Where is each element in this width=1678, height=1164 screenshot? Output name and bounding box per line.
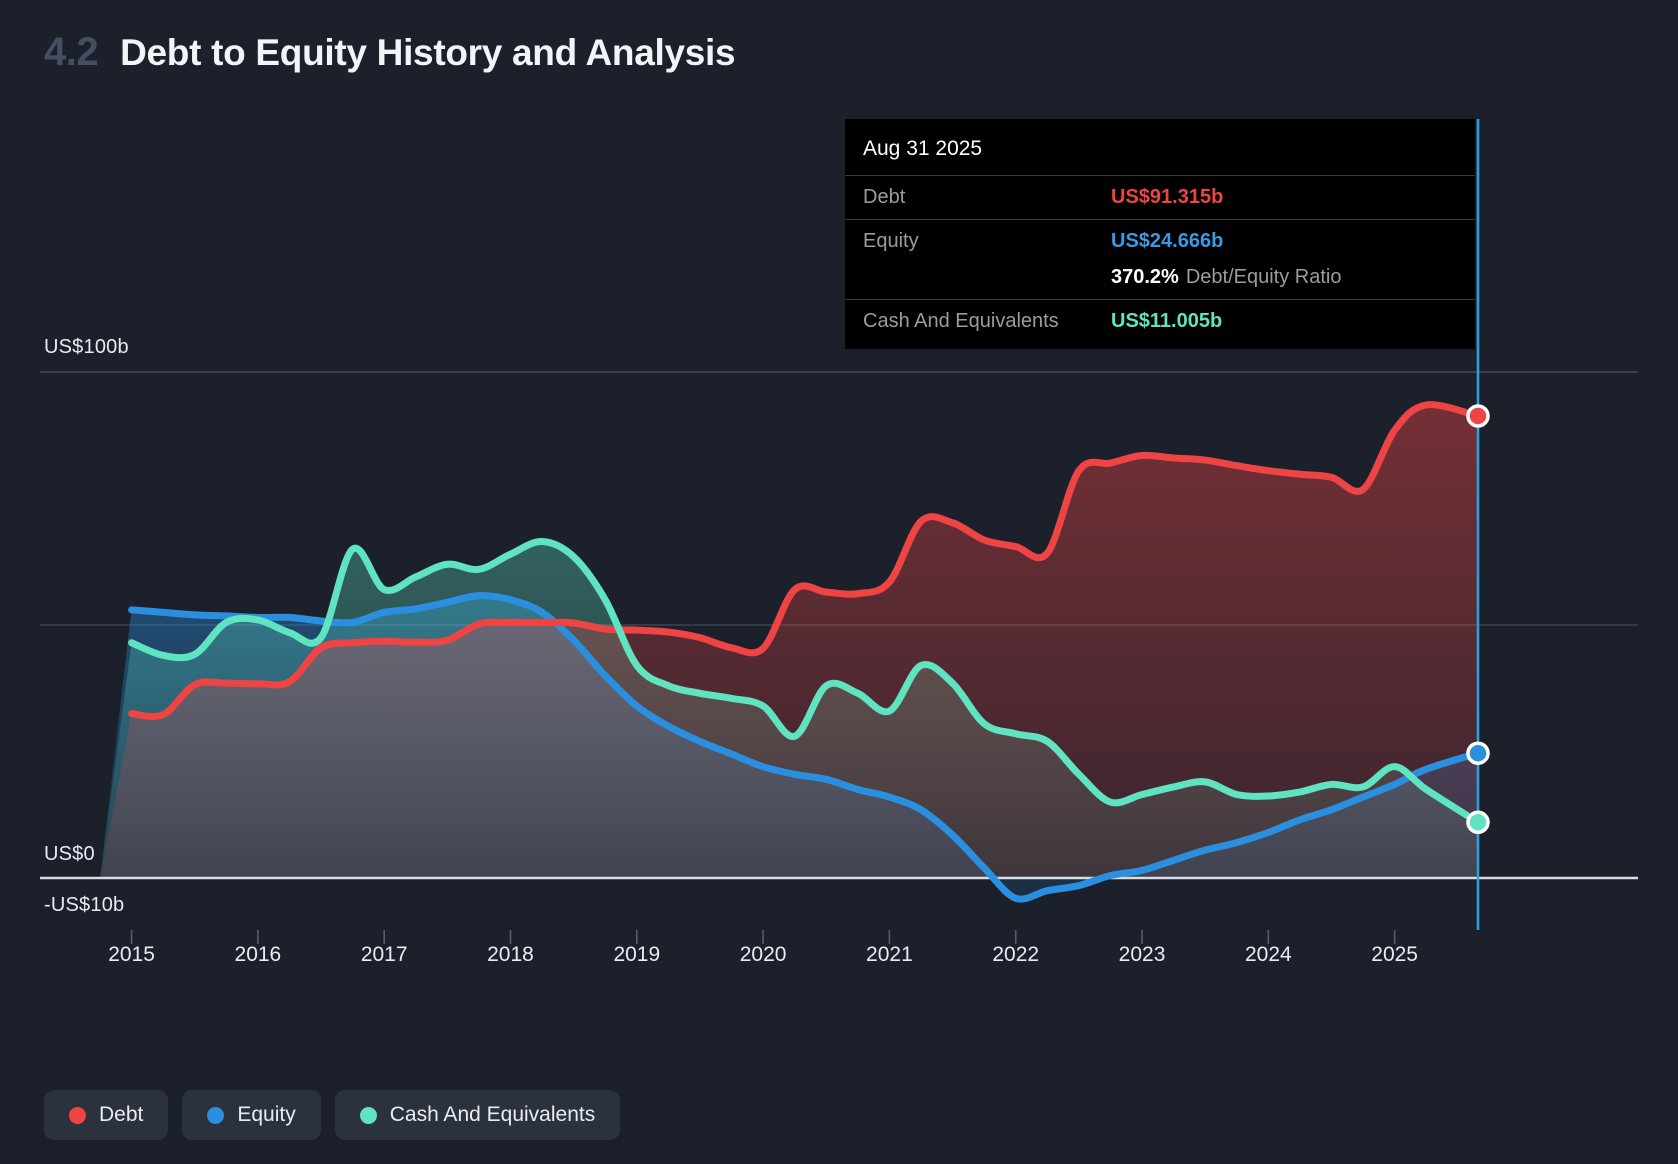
x-axis-label-2018: 2018 (487, 943, 534, 967)
x-axis-label-2020: 2020 (740, 943, 787, 967)
x-axis-label-2022: 2022 (992, 943, 1039, 967)
chart-tooltip: Aug 31 2025 Debt US$91.315b Equity US$24… (845, 119, 1475, 349)
y-axis-label-0: US$0 (44, 843, 95, 866)
y-axis-label-neg10b: -US$10b (44, 894, 124, 917)
tooltip-value-cash: US$11.005b (1111, 310, 1222, 333)
tooltip-label-equity: Equity (863, 230, 1111, 253)
tooltip-date: Aug 31 2025 (845, 119, 1475, 175)
x-axis-label-2024: 2024 (1245, 943, 1292, 967)
chart-legend[interactable]: DebtEquityCash And Equivalents (44, 1090, 620, 1140)
x-axis-label-2019: 2019 (613, 943, 660, 967)
series-areas (100, 405, 1478, 900)
legend-label: Cash And Equivalents (390, 1103, 595, 1127)
x-axis-label-2023: 2023 (1119, 943, 1166, 967)
tooltip-row-equity: Equity US$24.666b (845, 219, 1475, 263)
y-axis-label-100b: US$100b (44, 336, 129, 359)
tooltip-label-ratio: Debt/Equity Ratio (1186, 266, 1342, 289)
tooltip-row-debt: Debt US$91.315b (845, 175, 1475, 219)
legend-color-dot-icon (69, 1107, 86, 1124)
tooltip-value-ratio: 370.2% (1111, 266, 1179, 289)
legend-item-debt[interactable]: Debt (44, 1090, 168, 1140)
legend-item-equity[interactable]: Equity (182, 1090, 320, 1140)
tooltip-value-debt: US$91.315b (1111, 186, 1223, 209)
x-axis-label-2016: 2016 (235, 943, 282, 967)
legend-item-cash-and-equivalents[interactable]: Cash And Equivalents (335, 1090, 620, 1140)
x-axis-label-2015: 2015 (108, 943, 155, 967)
x-axis-label-2025: 2025 (1371, 943, 1418, 967)
tooltip-row-ratio: 370.2% Debt/Equity Ratio (845, 263, 1475, 299)
tooltip-label-debt: Debt (863, 186, 1111, 209)
legend-color-dot-icon (360, 1107, 377, 1124)
legend-color-dot-icon (207, 1107, 224, 1124)
cash-endpoint-marker (1468, 812, 1488, 832)
equity-endpoint-marker (1468, 743, 1488, 763)
x-axis-ticks (132, 930, 1395, 944)
x-axis-label-2021: 2021 (866, 943, 913, 967)
debt-endpoint-marker (1468, 406, 1488, 426)
legend-label: Equity (237, 1103, 295, 1127)
legend-label: Debt (99, 1103, 143, 1127)
tooltip-label-cash: Cash And Equivalents (863, 310, 1111, 333)
x-axis-label-2017: 2017 (361, 943, 408, 967)
tooltip-row-cash: Cash And Equivalents US$11.005b (845, 299, 1475, 343)
tooltip-value-equity: US$24.666b (1111, 230, 1223, 253)
